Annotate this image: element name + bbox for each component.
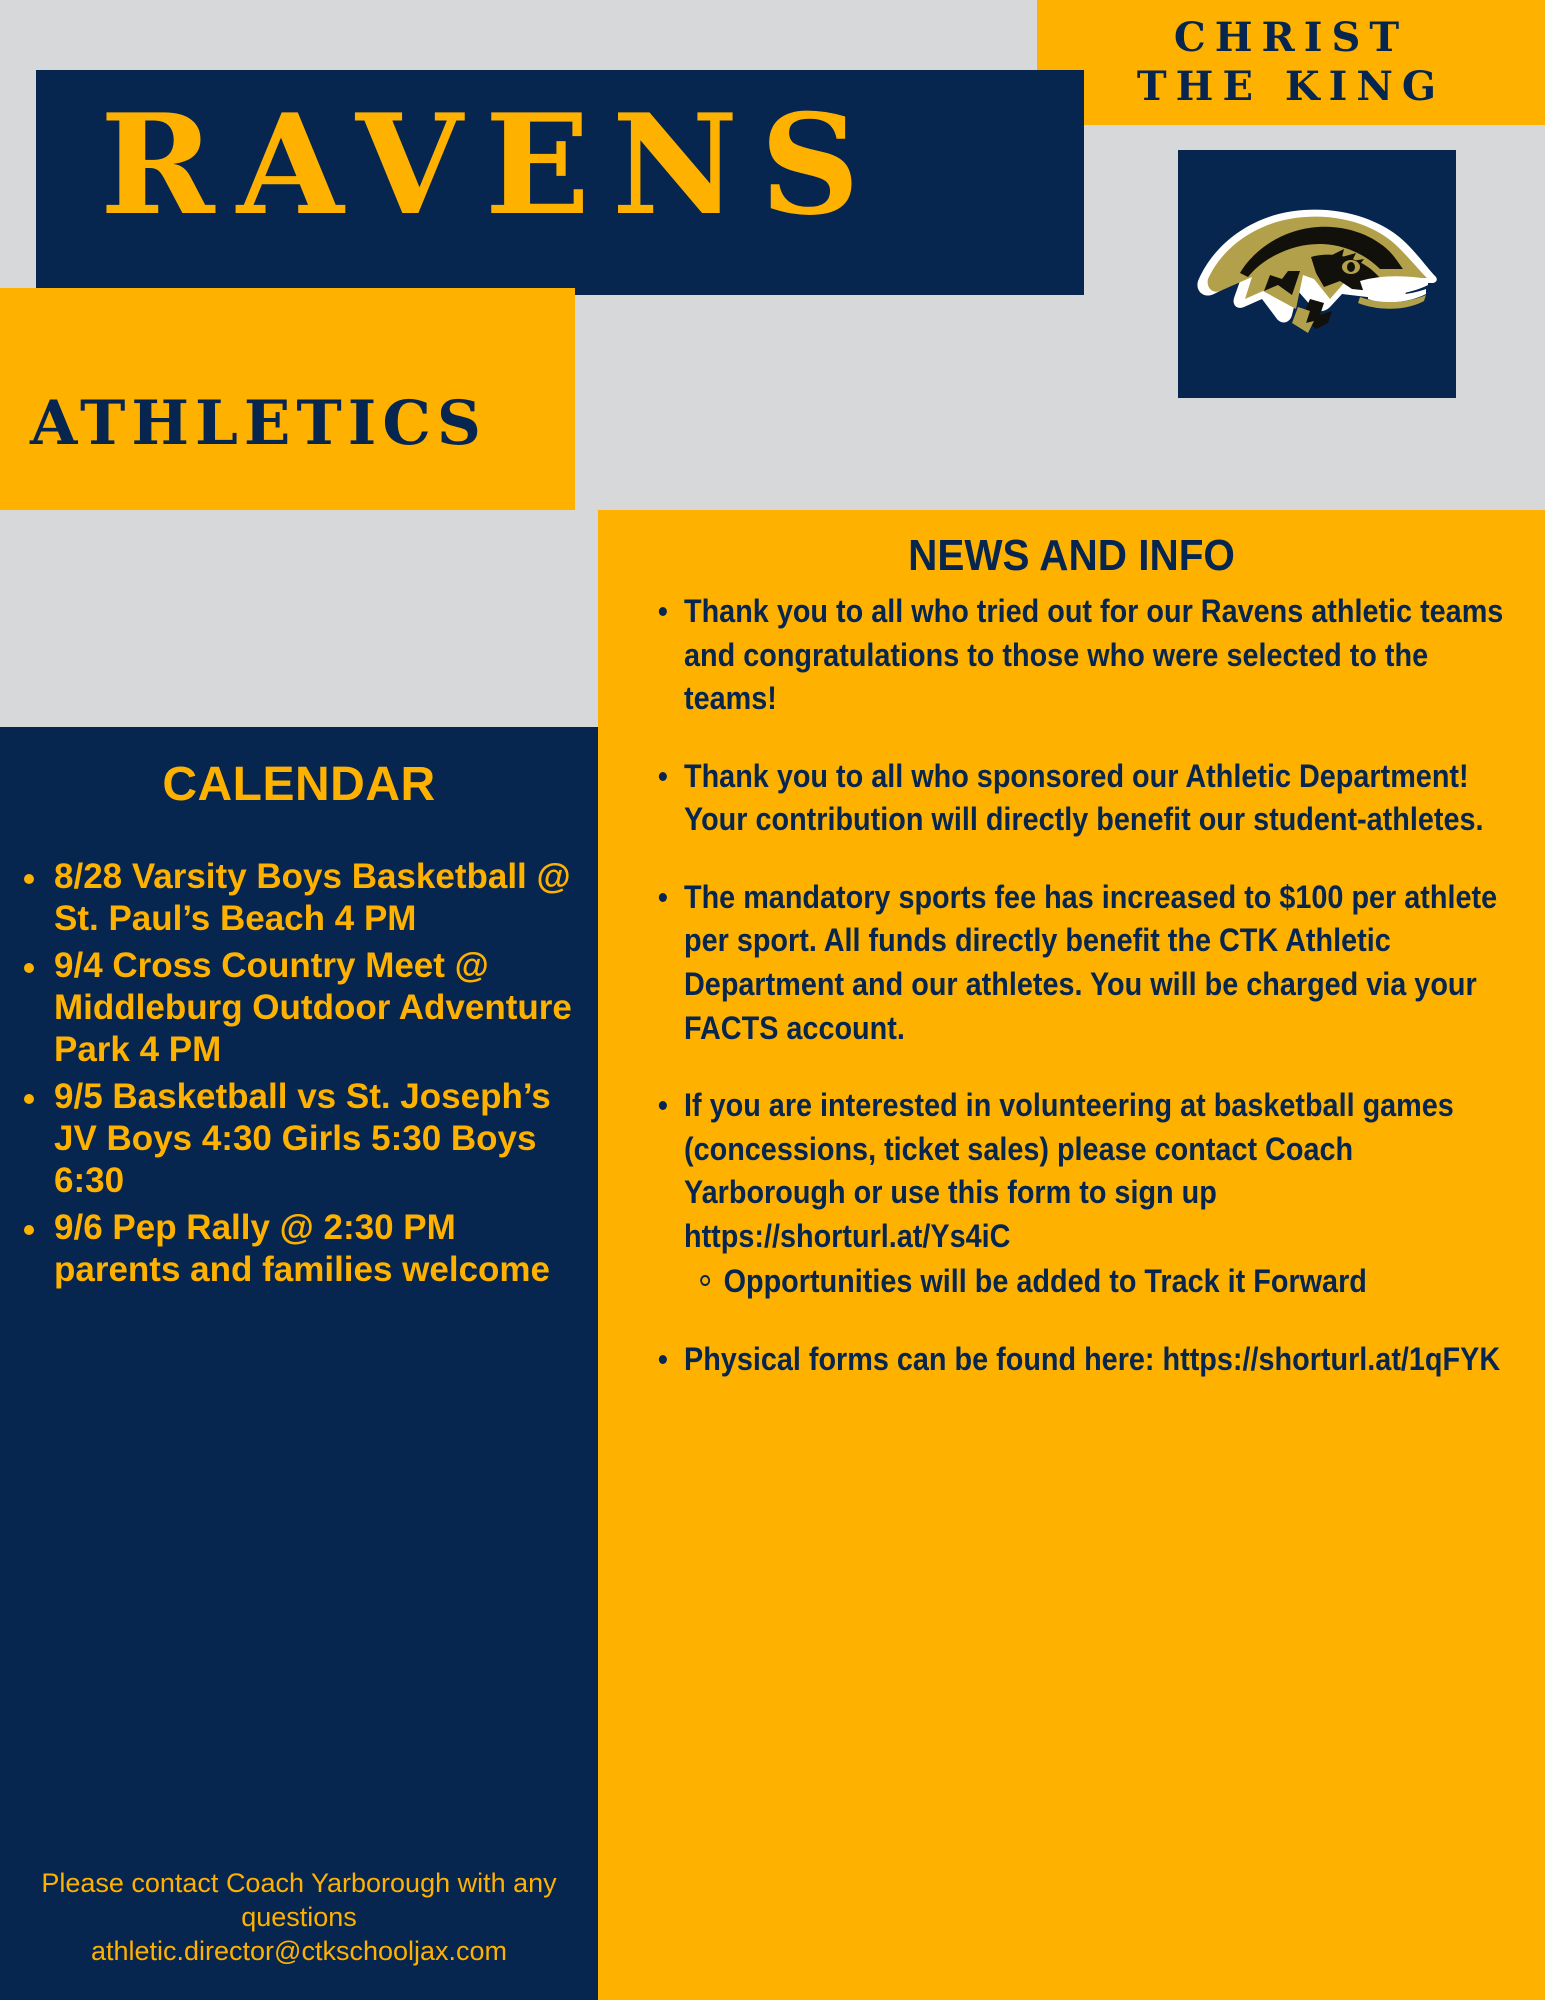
logo-container — [1178, 150, 1456, 398]
news-item: Physical forms can be found here: https:… — [684, 1338, 1504, 1382]
news-sub-list: Opportunities will be added to Track it … — [684, 1260, 1504, 1304]
calendar-item: 9/4 Cross Country Meet @ Middleburg Outd… — [54, 945, 580, 1071]
flyer-page: CHRIST THE KING RAVENS ATHLETICS — [0, 0, 1545, 2000]
news-panel: NEWS AND INFO Thank you to all who tried… — [598, 510, 1545, 2000]
news-sub-item: Opportunities will be added to Track it … — [724, 1260, 1505, 1304]
school-name-line-2: THE KING — [1137, 63, 1445, 112]
athletics-label: ATHLETICS — [30, 393, 487, 454]
contact-email: athletic.director@ctkschooljax.com — [14, 1934, 584, 1968]
calendar-panel: CALENDAR 8/28 Varsity Boys Basketball @ … — [0, 727, 598, 2000]
news-item-text: If you are interested in volunteering at… — [684, 1087, 1454, 1254]
news-item: The mandatory sports fee has increased t… — [684, 876, 1504, 1050]
news-item: Thank you to all who tried out for our R… — [684, 590, 1504, 721]
contact-line-1: Please contact Coach Yarborough with any — [14, 1866, 584, 1900]
news-item: Thank you to all who sponsored our Athle… — [684, 755, 1504, 842]
news-title: NEWS AND INFO — [673, 532, 1471, 580]
school-name-line-1: CHRIST — [1174, 14, 1408, 63]
team-name-text: RAVENS — [100, 96, 882, 234]
raven-head-icon — [1192, 199, 1442, 349]
news-list: Thank you to all who tried out for our R… — [638, 590, 1505, 1381]
calendar-title: CALENDAR — [0, 759, 598, 812]
news-item: If you are interested in volunteering at… — [684, 1084, 1504, 1304]
contact-line-2: questions — [14, 1900, 584, 1934]
calendar-item: 8/28 Varsity Boys Basketball @ St. Paul’… — [54, 856, 580, 940]
calendar-item: 9/6 Pep Rally @ 2:30 PM parents and fami… — [54, 1207, 580, 1291]
calendar-list: 8/28 Varsity Boys Basketball @ St. Paul’… — [0, 856, 598, 1291]
calendar-item: 9/5 Basketball vs St. Joseph’s JV Boys 4… — [54, 1076, 580, 1202]
school-name-banner: CHRIST THE KING — [1037, 0, 1545, 125]
contact-footer: Please contact Coach Yarborough with any… — [0, 1866, 598, 1968]
